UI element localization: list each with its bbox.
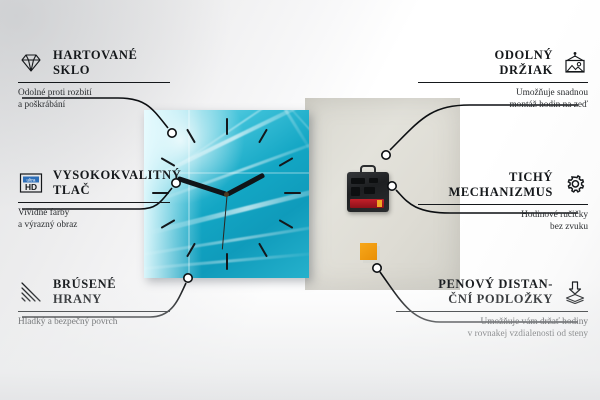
feature-header: ODOLNÝ DRŽIAK — [418, 48, 588, 78]
feature-subtitle: Vividné farby a výrazný obraz — [18, 207, 170, 232]
feature-durable-hanger: ODOLNÝ DRŽIAK Umožňuje snadnou montáž ho… — [418, 48, 588, 111]
feature-divider — [418, 82, 588, 83]
feature-subtitle: Hladký a bezpečný povrch — [18, 316, 170, 328]
feature-title: ODOLNÝ DRŽIAK — [495, 48, 553, 78]
feature-divider — [418, 204, 588, 205]
foam-spacer-icon — [562, 280, 588, 304]
feature-header: BRÚSENÉ HRANY — [18, 277, 170, 307]
ultra-hd-icon: ultra HD — [18, 171, 44, 195]
svg-text:HD: HD — [25, 182, 37, 192]
feature-subtitle: Hodinové ručičky bez zvuku — [418, 209, 588, 234]
gear-icon — [562, 173, 588, 197]
feature-header: PENOVÝ DISTAN- ČNÍ PODLOŽKY — [396, 277, 588, 307]
feature-title: BRÚSENÉ HRANY — [53, 277, 116, 307]
feature-header: HARTOVANÉ SKLO — [18, 48, 170, 78]
feature-header: ultra HD VYSOKOKVALITNÝ TLAČ — [18, 168, 170, 198]
diamond-icon — [18, 51, 44, 75]
feature-divider — [18, 202, 170, 203]
feature-high-quality-print: ultra HD VYSOKOKVALITNÝ TLAČ Vividné far… — [18, 168, 170, 231]
bevelled-edges-icon — [18, 280, 44, 304]
feature-divider — [18, 311, 170, 312]
connector-node-edges — [184, 274, 192, 282]
promo-infographic: HARTOVANÉ SKLO Odolné proti rozbití a po… — [0, 0, 600, 400]
feature-title: TICHÝ MECHANIZMUS — [448, 170, 553, 200]
feature-title: VYSOKOKVALITNÝ TLAČ — [53, 168, 181, 198]
feature-header: TICHÝ MECHANIZMUS — [418, 170, 588, 200]
feature-foam-spacers: PENOVÝ DISTAN- ČNÍ PODLOŽKY Umožňuje vám… — [396, 277, 588, 340]
feature-title: PENOVÝ DISTAN- ČNÍ PODLOŽKY — [438, 277, 553, 307]
feature-divider — [396, 311, 588, 312]
wall-hanger-icon — [562, 51, 588, 75]
feature-silent-mechanism: TICHÝ MECHANIZMUS Hodinové ručičky bez z… — [418, 170, 588, 233]
feature-subtitle: Umožňuje snadnou montáž hodin na zeď — [418, 87, 588, 112]
feature-title: HARTOVANÉ SKLO — [53, 48, 137, 78]
connector-node-hanger — [382, 151, 390, 159]
feature-subtitle: Umožňuje vám držať hodiny v rovnakej vzd… — [396, 316, 588, 341]
connector-node-foam — [373, 264, 381, 272]
connector-node-mechanism — [388, 182, 396, 190]
connector-node-hardened-glass — [168, 129, 176, 137]
feature-subtitle: Odolné proti rozbití a poškrábání — [18, 87, 170, 112]
connector-path-hanger — [390, 105, 578, 150]
feature-bevelled-edges: BRÚSENÉ HRANY Hladký a bezpečný povrch — [18, 277, 170, 328]
feature-hardened-glass: HARTOVANÉ SKLO Odolné proti rozbití a po… — [18, 48, 170, 111]
feature-divider — [18, 82, 170, 83]
